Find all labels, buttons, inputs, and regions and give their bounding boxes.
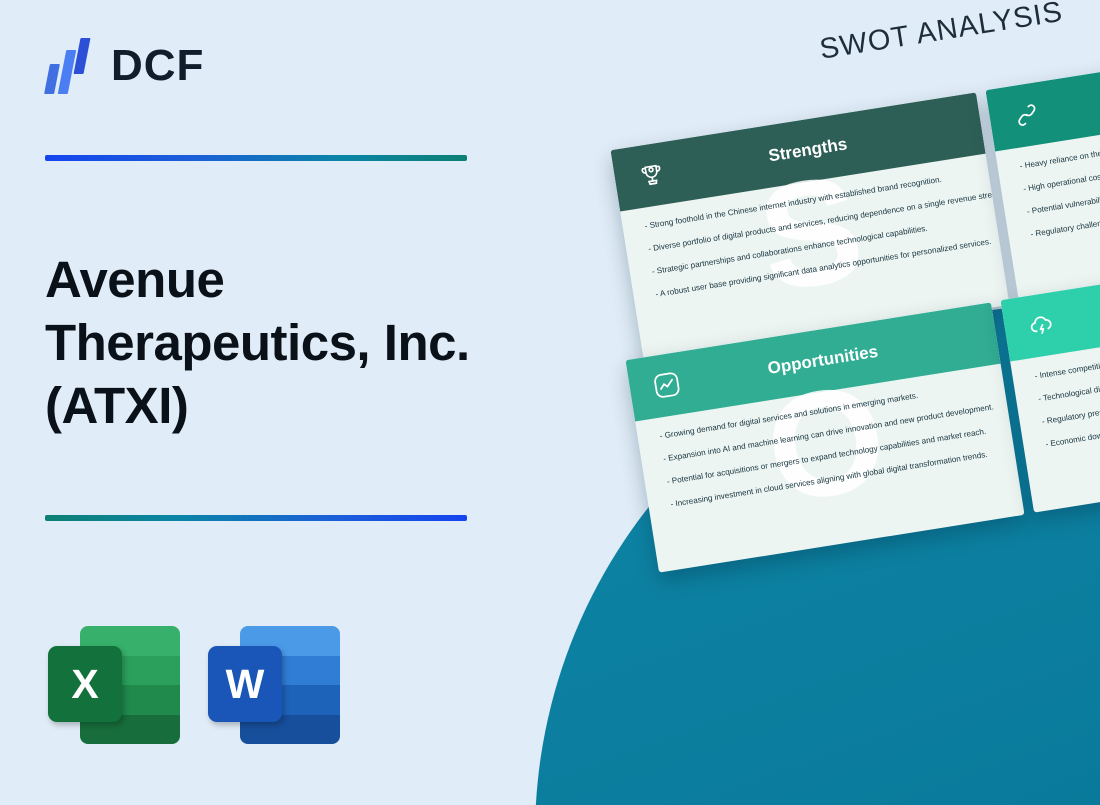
download-formats: X W xyxy=(48,622,340,748)
storm-cloud-icon xyxy=(1025,308,1059,342)
excel-file-icon[interactable]: X xyxy=(48,622,180,748)
brand-logo[interactable]: DCF xyxy=(45,38,204,94)
trophy-icon xyxy=(635,158,669,192)
dcf-bars-logo-icon xyxy=(45,38,97,94)
word-file-icon[interactable]: W xyxy=(208,622,340,748)
divider-top xyxy=(45,155,467,161)
weaknesses-title: Weaknesses xyxy=(989,53,1100,131)
left-panel: DCF Avenue Therapeutics, Inc. (ATXI) X W xyxy=(0,0,560,805)
weaknesses-header: Weaknesses xyxy=(985,32,1100,151)
page-title: Avenue Therapeutics, Inc. (ATXI) xyxy=(45,248,545,438)
swot-heading: SWOT ANALYSIS xyxy=(817,0,1100,67)
broken-link-icon xyxy=(1010,98,1044,132)
swot-analysis-graphic: SWOT ANALYSIS Strengths S St xyxy=(520,0,1100,805)
excel-badge-letter: X xyxy=(48,646,122,722)
brand-name: DCF xyxy=(111,44,204,88)
trend-line-icon xyxy=(650,368,684,402)
word-badge-letter: W xyxy=(208,646,282,722)
divider-bottom xyxy=(45,515,467,521)
